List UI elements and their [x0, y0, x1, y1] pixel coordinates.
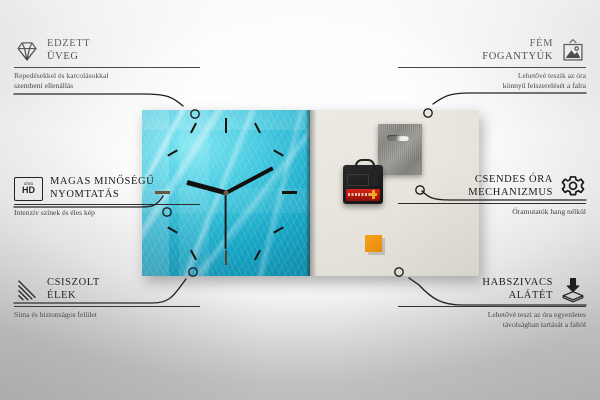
- infographic-canvas: EDZETT ÜVEG Repedésekkel és karcolásokka…: [0, 0, 600, 400]
- feature-divider: [14, 204, 200, 205]
- connector-endpoint-tempered-glass: [191, 110, 199, 118]
- framed-picture-hook-icon: [560, 38, 586, 64]
- feature-divider: [398, 306, 586, 307]
- feature-divider: [14, 306, 200, 307]
- feature-polished-edges: CSISZOLT ÉLEK Sima és biztonságos felüle…: [14, 277, 200, 320]
- feature-title: FÉM FOGANTYÚK: [482, 38, 553, 63]
- feature-desc-line1: Repedésekkel és karcolásokkal: [14, 71, 200, 81]
- feature-heading-row: CSENDES ÓRA MECHANIZMUS: [398, 174, 586, 200]
- feature-desc-line1: Sima és biztonságos felület: [14, 310, 200, 320]
- feature-silent-mechanism: CSENDES ÓRA MECHANIZMUS Óramutatók hang …: [398, 174, 586, 217]
- feature-divider: [14, 67, 200, 68]
- feature-title: CSISZOLT ÉLEK: [47, 277, 100, 302]
- feature-heading-row: ultra HD MAGAS MINŐSÉGŰ NYOMTATÁS: [14, 176, 200, 201]
- feature-desc-line2: távolságban tartását a faltól: [398, 320, 586, 330]
- feature-metal-handles: FÉM FOGANTYÚK Lehetővé teszik az óra kön…: [398, 38, 586, 90]
- feature-divider: [398, 67, 586, 68]
- feature-foam-backing: HABSZIVACS ALÁTÉT Lehetővé teszi az óra …: [398, 277, 586, 329]
- feature-title: MAGAS MINŐSÉGŰ NYOMTATÁS: [50, 176, 154, 201]
- connector-endpoint-polished-edges: [189, 268, 197, 276]
- polished-edges-icon: [14, 277, 40, 303]
- feature-desc-line1: Óramutatók hang nélkül: [398, 207, 586, 217]
- feature-heading-row: FÉM FOGANTYÚK: [398, 38, 586, 64]
- ultra-hd-icon: ultra HD: [14, 177, 43, 201]
- feature-title: HABSZIVACS ALÁTÉT: [482, 277, 553, 302]
- diamond-icon: [14, 38, 40, 64]
- connector-endpoint-foam-backing: [395, 268, 403, 276]
- gear-icon: [560, 174, 586, 200]
- connector-endpoint-metal-handles: [424, 109, 432, 117]
- feature-desc-line1: Lehetővé teszik az óra: [398, 71, 586, 81]
- feature-desc-line2: könnyű felszerelését a falra: [398, 81, 586, 91]
- connector-metal-handles-path: [433, 93, 586, 104]
- feature-heading-row: HABSZIVACS ALÁTÉT: [398, 277, 586, 303]
- foam-pad-press-icon: [560, 277, 586, 303]
- feature-desc-line1: Intenzív színek és éles kép: [14, 208, 200, 218]
- ultra-hd-icon-main: HD: [22, 186, 35, 195]
- feature-desc-line1: Lehetővé teszi az óra egyenletes: [398, 310, 586, 320]
- feature-heading-row: CSISZOLT ÉLEK: [14, 277, 200, 303]
- connector-tempered-glass-path: [14, 94, 183, 106]
- feature-title: CSENDES ÓRA MECHANIZMUS: [468, 174, 553, 199]
- feature-title: EDZETT ÜVEG: [47, 38, 90, 63]
- feature-tempered-glass: EDZETT ÜVEG Repedésekkel és karcolásokka…: [14, 38, 200, 90]
- feature-divider: [398, 203, 586, 204]
- feature-heading-row: EDZETT ÜVEG: [14, 38, 200, 64]
- feature-desc-line2: szembeni ellenállás: [14, 81, 200, 91]
- feature-high-quality-print: ultra HD MAGAS MINŐSÉGŰ NYOMTATÁS Intenz…: [14, 176, 200, 218]
